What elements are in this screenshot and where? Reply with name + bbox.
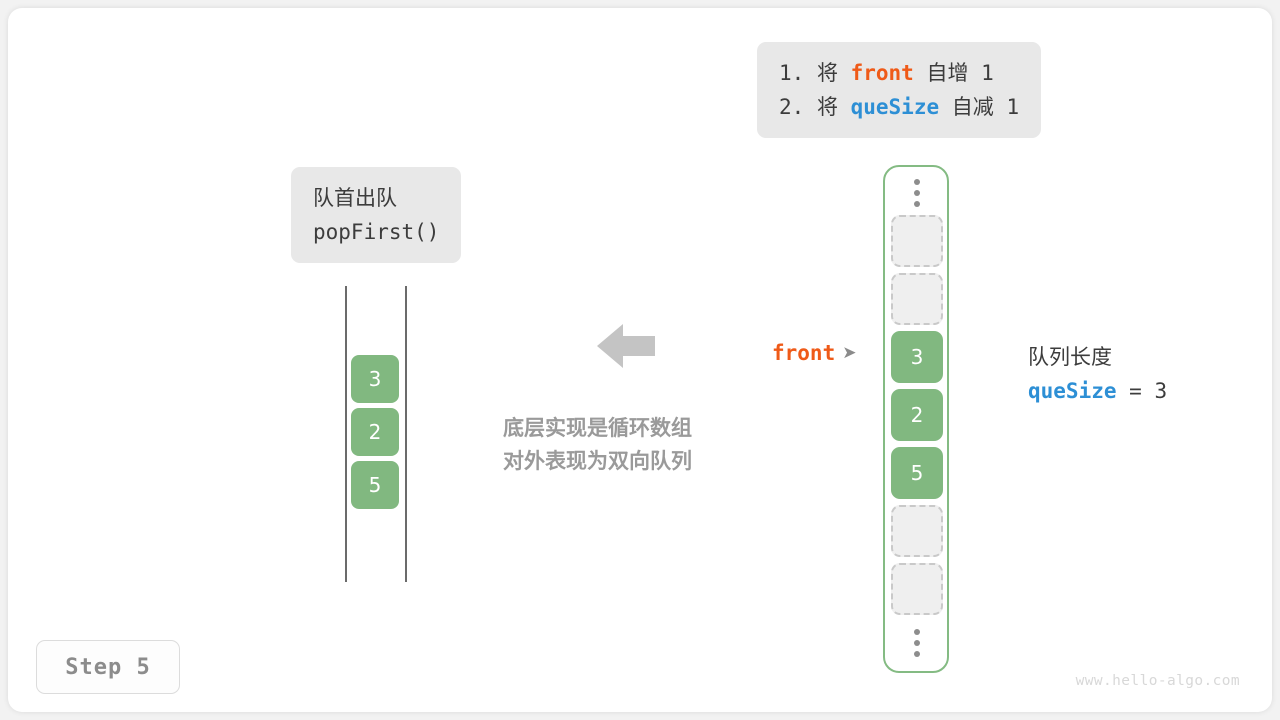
array-slot-empty xyxy=(891,505,943,557)
array-slot-filled: 2 xyxy=(891,389,943,441)
array-top-ellipsis-icon xyxy=(891,171,943,215)
operation-note-line-1: 1. 将 front 自增 1 xyxy=(779,56,1019,90)
array-slot-empty xyxy=(891,273,943,325)
operation-title-method: popFirst() xyxy=(313,215,439,249)
op-line1-index: 1. xyxy=(779,61,804,85)
operation-note: 1. 将 front 自增 1 2. 将 queSize 自减 1 xyxy=(757,42,1041,138)
deque-cell: 3 xyxy=(351,355,399,403)
op-line1-variable: front xyxy=(851,61,914,85)
array-slot-filled: 3 xyxy=(891,331,943,383)
deque-rail-right xyxy=(405,286,407,582)
front-pointer-arrow-icon: ➤ xyxy=(842,345,856,362)
quesize-equals: = xyxy=(1129,379,1142,403)
op-line2-index: 2. xyxy=(779,95,804,119)
operation-title-chinese: 队首出队 xyxy=(313,181,439,215)
quesize-value: 3 xyxy=(1154,379,1167,403)
queue-size-caption: 队列长度 xyxy=(1028,340,1167,374)
deque-cell: 2 xyxy=(351,408,399,456)
operation-note-line-2: 2. 将 queSize 自减 1 xyxy=(779,90,1019,124)
array-bottom-ellipsis-icon xyxy=(891,621,943,665)
implementation-caption: 底层实现是循环数组 对外表现为双向队列 xyxy=(503,412,692,477)
op-line1-prefix: 将 xyxy=(817,61,838,85)
op-line2-amount: 1 xyxy=(1006,95,1019,119)
front-pointer-text: front xyxy=(772,341,835,365)
quesize-variable: queSize xyxy=(1028,379,1117,403)
op-line2-suffix: 自减 xyxy=(952,95,994,119)
op-line2-prefix: 将 xyxy=(817,95,838,119)
deque-cell-list: 3 2 5 xyxy=(351,355,401,514)
queue-size-expression: queSize = 3 xyxy=(1028,374,1167,408)
diagram-canvas: 1. 将 front 自增 1 2. 将 queSize 自减 1 队首出队 p… xyxy=(0,0,1280,720)
implementation-caption-line-1: 底层实现是循环数组 xyxy=(503,412,692,445)
array-slot-empty xyxy=(891,215,943,267)
deque-cell: 5 xyxy=(351,461,399,509)
deque-rail-left xyxy=(345,286,347,582)
op-line1-amount: 1 xyxy=(981,61,994,85)
site-watermark: www.hello-algo.com xyxy=(1076,673,1240,689)
array-slot-filled: 5 xyxy=(891,447,943,499)
front-pointer-label: front ➤ xyxy=(772,341,856,365)
implementation-caption-line-2: 对外表现为双向队列 xyxy=(503,445,692,478)
flow-arrow-left-icon xyxy=(597,322,655,370)
circular-array-container: 3 2 5 xyxy=(883,165,949,673)
deque-abstract-view: 3 2 5 xyxy=(345,286,409,582)
op-line2-variable: queSize xyxy=(851,95,940,119)
step-badge: Step 5 xyxy=(36,640,180,694)
operation-title-note: 队首出队 popFirst() xyxy=(291,167,461,263)
queue-size-label: 队列长度 queSize = 3 xyxy=(1028,340,1167,408)
op-line1-suffix: 自增 xyxy=(926,61,968,85)
array-slot-empty xyxy=(891,563,943,615)
